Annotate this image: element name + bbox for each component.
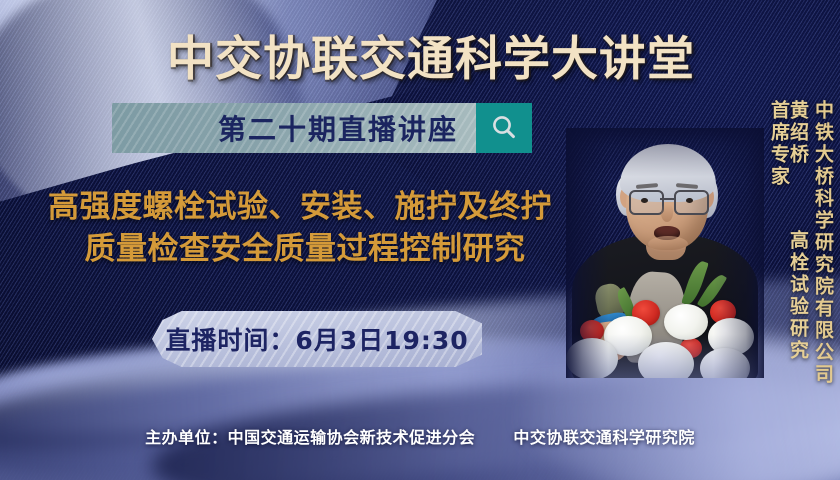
search-button[interactable] (476, 103, 532, 153)
lecture-headline-line1: 高强度螺栓试验、安装、施拧及终拧 (48, 189, 552, 225)
broadcast-time-badge: 直播时间：6月3日19:30 (152, 311, 482, 367)
speaker-nose (661, 204, 673, 222)
lecture-headline: 高强度螺栓试验、安装、施拧及终拧 质量检查安全质量过程控制研究 (0, 186, 600, 270)
episode-subtitle-label: 第二十期直播讲座 (218, 108, 458, 148)
speaker-organization: 中铁大桥科学研究院有限公司 (813, 100, 832, 386)
speaker-credit: 黄绍桥 高栓试验研究首席专家 中铁大桥科学研究院有限公司 (769, 100, 832, 386)
live-lecture-promo-banner: 中交协联交通科学大讲堂 第二十期直播讲座 高强度螺栓试验、安装、施拧及终拧 质量… (0, 0, 840, 480)
organizer-label: 主办单位：中国交通运输协会新技术促进分会 (145, 428, 475, 447)
page-title: 中交协联交通科学大讲堂 (0, 20, 840, 89)
search-icon (489, 113, 519, 143)
speaker-name: 黄绍桥 (787, 100, 809, 166)
speaker-chin (648, 236, 688, 252)
broadcast-time-label: 直播时间：6月3日19:30 (165, 321, 468, 357)
flower-bouquet (566, 294, 764, 378)
lecture-headline-line2: 质量检查安全质量过程控制研究 (0, 228, 600, 270)
institute-label: 中交协联交通科学研究院 (513, 428, 695, 447)
speaker-eye-left (641, 198, 648, 203)
bouquet-lily (664, 304, 708, 340)
speaker-name-and-role: 黄绍桥 高栓试验研究首席专家 (769, 100, 807, 368)
bouquet-lily (638, 342, 694, 378)
bouquet-lily (566, 338, 618, 378)
speaker-eye-right (686, 198, 693, 203)
episode-subtitle-fill: 第二十期直播讲座 (112, 103, 476, 153)
episode-subtitle-bar: 第二十期直播讲座 (112, 103, 532, 153)
glasses-bridge (660, 198, 674, 200)
organizer-footer: 主办单位：中国交通运输协会新技术促进分会 中交协联交通科学研究院 (0, 424, 840, 448)
